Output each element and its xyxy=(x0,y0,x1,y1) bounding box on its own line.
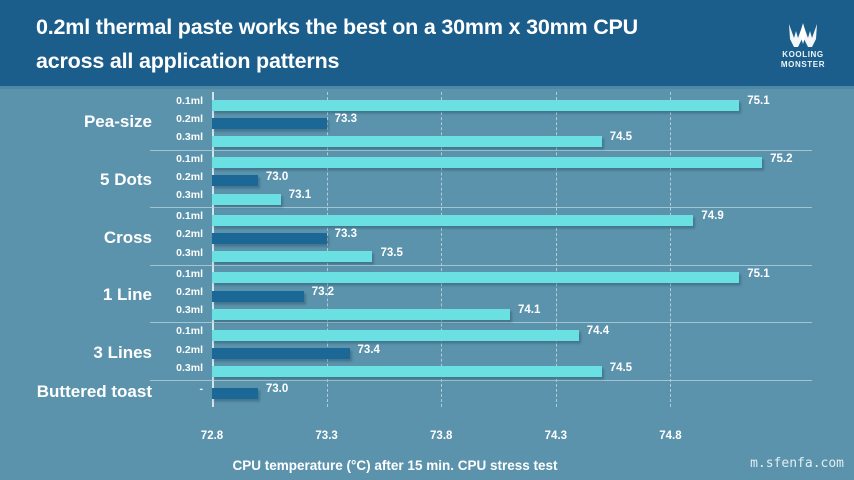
series-label: 0.2ml xyxy=(176,171,203,183)
page-title: 0.2ml thermal paste works the best on a … xyxy=(36,10,746,78)
bar-value-label: 73.4 xyxy=(358,344,380,356)
slide-root: 0.2ml thermal paste works the best on a … xyxy=(0,0,854,480)
bar-value-label: 75.1 xyxy=(747,95,769,107)
series-label: 0.2ml xyxy=(176,344,203,356)
bar[interactable] xyxy=(212,309,510,320)
chart-row: 0.1ml74.4 xyxy=(212,326,808,344)
chart-row: 0.3ml73.1 xyxy=(212,190,808,208)
chart-row: 0.2ml73.0 xyxy=(212,172,808,190)
bar[interactable] xyxy=(212,388,258,399)
chart-row: 0.2ml73.2 xyxy=(212,287,808,305)
bar[interactable] xyxy=(212,215,693,226)
chart-plot-area: 0.1ml75.10.2ml73.30.3ml74.50.1ml75.20.2m… xyxy=(212,92,808,407)
series-label: 0.2ml xyxy=(176,113,203,125)
brand-name-line-2: MONSTER xyxy=(760,60,846,70)
brand-name-line-1: KOOLING xyxy=(760,50,846,60)
category-label: Buttered toast xyxy=(0,382,152,402)
chart-row: 0.3ml74.5 xyxy=(212,132,808,150)
chart-row: 0.1ml75.1 xyxy=(212,269,808,287)
bar[interactable] xyxy=(212,291,304,302)
chart-row: 0.1ml74.9 xyxy=(212,211,808,229)
chart-row: 0.2ml73.4 xyxy=(212,345,808,363)
series-label: 0.3ml xyxy=(176,247,203,259)
bar-value-label: 73.3 xyxy=(335,228,357,240)
bar-value-label: 73.0 xyxy=(266,171,288,183)
brand-logo: KOOLING MONSTER xyxy=(760,22,846,80)
x-tick-label: 73.3 xyxy=(315,430,337,442)
series-label: 0.1ml xyxy=(176,153,203,165)
bar[interactable] xyxy=(212,136,602,147)
chart-row: 0.2ml73.3 xyxy=(212,229,808,247)
x-axis-title: CPU temperature (°C) after 15 min. CPU s… xyxy=(0,458,790,473)
series-label: 0.2ml xyxy=(176,286,203,298)
chart-row: 0.2ml73.3 xyxy=(212,114,808,132)
bar[interactable] xyxy=(212,194,281,205)
bar-value-label: 74.9 xyxy=(701,210,723,222)
x-tick-label: 73.8 xyxy=(430,430,452,442)
chart-row: 0.1ml75.1 xyxy=(212,96,808,114)
bar-value-label: 74.4 xyxy=(587,325,609,337)
header-divider xyxy=(0,86,854,89)
series-label: 0.3ml xyxy=(176,304,203,316)
series-label: 0.1ml xyxy=(176,95,203,107)
bar-value-label: 73.0 xyxy=(266,383,288,395)
category-label: Pea-size xyxy=(0,112,152,132)
bar-value-label: 73.3 xyxy=(335,113,357,125)
series-label: 0.3ml xyxy=(176,362,203,374)
bar-value-label: 73.1 xyxy=(289,189,311,201)
series-label: 0.3ml xyxy=(176,189,203,201)
bar-value-label: 74.1 xyxy=(518,304,540,316)
chart-row: 0.3ml74.1 xyxy=(212,305,808,323)
watermark: m.sfenfa.com xyxy=(750,456,844,471)
bar-value-label: 75.2 xyxy=(770,153,792,165)
bar-value-label: 73.2 xyxy=(312,286,334,298)
series-label: 0.1ml xyxy=(176,325,203,337)
bar[interactable] xyxy=(212,175,258,186)
chart-row: 0.3ml74.5 xyxy=(212,363,808,381)
page-title-line-2: across all application patterns xyxy=(36,44,746,78)
bar[interactable] xyxy=(212,100,739,111)
series-label: 0.1ml xyxy=(176,210,203,222)
bar[interactable] xyxy=(212,118,327,129)
header-banner: 0.2ml thermal paste works the best on a … xyxy=(0,0,854,86)
series-label: 0.1ml xyxy=(176,268,203,280)
page-title-line-1: 0.2ml thermal paste works the best on a … xyxy=(36,10,746,44)
category-label: Cross xyxy=(0,228,152,248)
bar[interactable] xyxy=(212,348,350,359)
x-tick-label: 74.3 xyxy=(545,430,567,442)
x-tick-label: 72.8 xyxy=(201,430,223,442)
x-tick-label: 74.8 xyxy=(659,430,681,442)
series-label: 0.2ml xyxy=(176,228,203,240)
series-label: 0.3ml xyxy=(176,131,203,143)
bar[interactable] xyxy=(212,251,372,262)
category-label: 3 Lines xyxy=(0,343,152,363)
bar-value-label: 73.5 xyxy=(380,247,402,259)
chart-row: -73.0 xyxy=(212,384,808,402)
bar-value-label: 74.5 xyxy=(610,362,632,374)
bar-value-label: 75.1 xyxy=(747,268,769,280)
bar[interactable] xyxy=(212,366,602,377)
bar[interactable] xyxy=(212,330,579,341)
monster-crown-icon xyxy=(781,22,825,50)
bar[interactable] xyxy=(212,272,739,283)
series-label: - xyxy=(200,383,204,395)
bar-value-label: 74.5 xyxy=(610,131,632,143)
category-label: 5 Dots xyxy=(0,170,152,190)
chart-row: 0.1ml75.2 xyxy=(212,154,808,172)
chart-row: 0.3ml73.5 xyxy=(212,248,808,266)
bar[interactable] xyxy=(212,157,762,168)
category-label: 1 Line xyxy=(0,285,152,305)
bar[interactable] xyxy=(212,233,327,244)
